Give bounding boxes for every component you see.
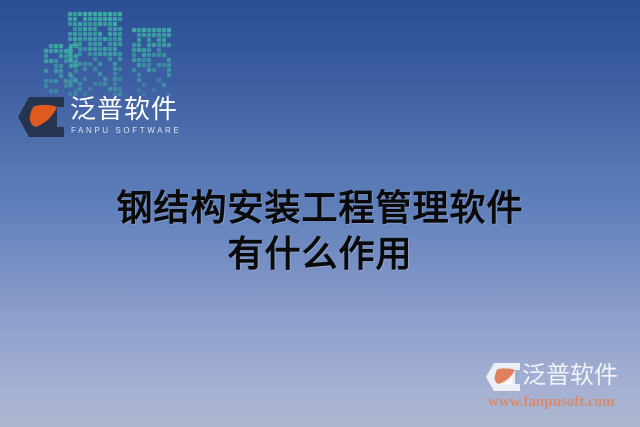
pixel-buildings-canvas (40, 0, 180, 96)
pixel-buildings-decoration (40, 0, 180, 96)
watermark-url: www.fanpusoft.com (488, 393, 615, 411)
watermark: 泛普软件 www.fanpusoft.com (486, 359, 632, 417)
page-title-line-1: 钢结构安装工程管理软件 (0, 186, 640, 232)
brand-name-en: FANPU SOFTWARE (71, 126, 181, 136)
brand-logo: 泛普软件 FANPU SOFTWARE (18, 95, 183, 141)
watermark-logo-mark-icon (486, 363, 520, 391)
brand-text-block: 泛普软件 FANPU SOFTWARE (70, 95, 190, 139)
brand-name-cn: 泛普软件 (70, 95, 178, 125)
poster-canvas: 泛普软件 FANPU SOFTWARE 钢结构安装工程管理软件 有什么作用 泛普… (0, 0, 640, 427)
page-title-line-2: 有什么作用 (0, 232, 640, 278)
watermark-name-cn: 泛普软件 (522, 360, 618, 390)
fanpu-logo-mark-icon (18, 97, 64, 137)
page-title: 钢结构安装工程管理软件 有什么作用 (0, 186, 640, 278)
